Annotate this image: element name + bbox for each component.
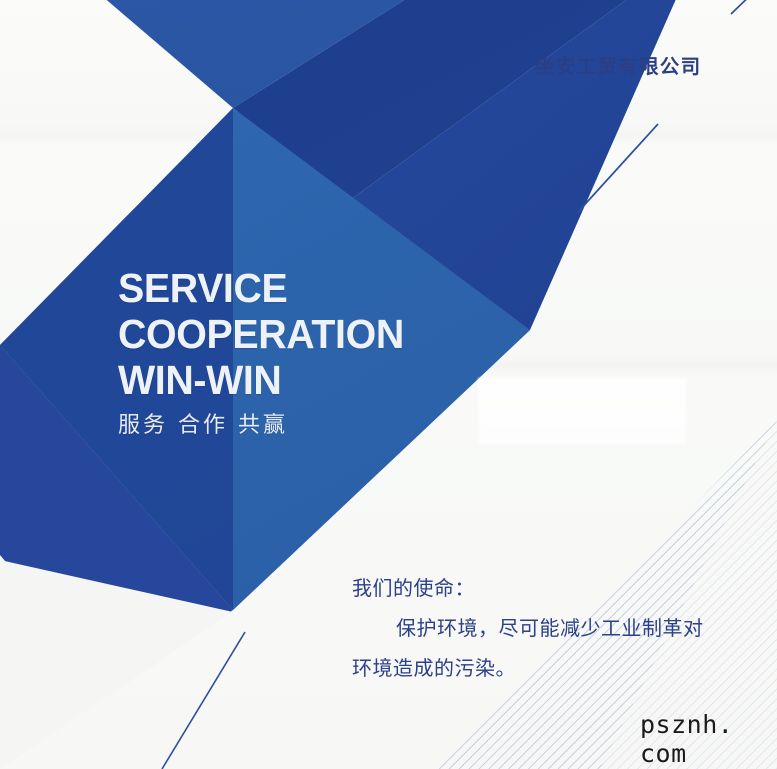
watermark: psznh. com [640, 710, 777, 768]
mission-block: 我们的使命： 保护环境，尽可能减少工业制革对 环境造成的污染。 [352, 568, 752, 688]
slogan-line-3: WIN-WIN [118, 357, 435, 403]
brochure-page: 坐安工贸有限公司 SERVICE COOPERATION WIN-WIN 服务 … [0, 0, 777, 769]
scan-smudge [478, 378, 686, 444]
slogan-chinese: 服务 合作 共赢 [118, 407, 448, 439]
accent-line-top-right-short [731, 0, 760, 14]
slogan-block: SERVICE COOPERATION WIN-WIN 服务 合作 共赢 [118, 265, 448, 439]
slogan-line-1: SERVICE [118, 265, 435, 311]
company-name: 坐安工贸有限公司 [535, 50, 701, 79]
mission-body-line-2: 环境造成的污染。 [352, 648, 752, 688]
mission-body-line-1: 保护环境，尽可能减少工业制革对 [352, 608, 752, 648]
accent-line-bottom-left [162, 632, 245, 769]
slogan-line-2: COOPERATION [118, 311, 435, 357]
mission-heading: 我们的使命： [352, 568, 752, 608]
